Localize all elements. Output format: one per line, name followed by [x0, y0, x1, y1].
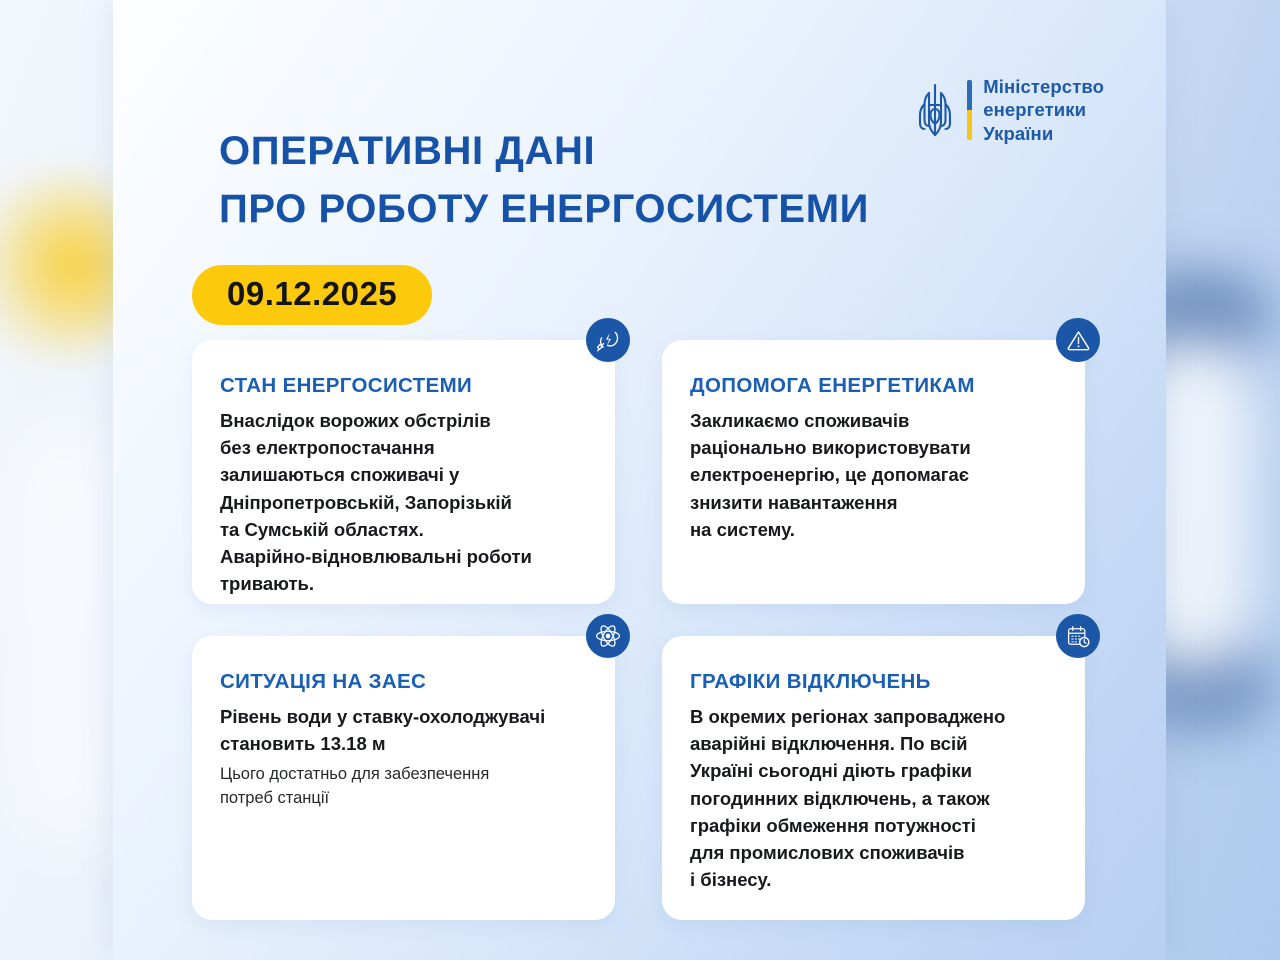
atom-icon — [586, 614, 630, 658]
ukraine-trident-icon — [914, 79, 956, 141]
page-title: ОПЕРАТИВНІ ДАНІ ПРО РОБОТУ ЕНЕРГОСИСТЕМИ — [219, 122, 869, 238]
card-title: СТАН ЕНЕРГОСИСТЕМИ — [220, 374, 589, 398]
ministry-logo-line-3: України — [983, 122, 1104, 145]
ministry-logo-text: Міністерство енергетики України — [983, 75, 1104, 145]
card-title: СИТУАЦІЯ НА ЗАЕС — [220, 670, 589, 694]
cards-grid: СТАН ЕНЕРГОСИСТЕМИ Внаслідок ворожих обс… — [192, 340, 1092, 920]
card-body-text: Рівень води у ставку-охолоджувачі станов… — [220, 703, 589, 757]
ministry-logo: Міністерство енергетики України — [914, 75, 1104, 145]
warning-triangle-icon — [1056, 318, 1100, 362]
card-power-system-status: СТАН ЕНЕРГОСИСТЕМИ Внаслідок ворожих обс… — [192, 340, 615, 604]
card-outage-schedules: ГРАФІКИ ВІДКЛЮЧЕНЬ В окремих регіонах за… — [662, 636, 1085, 920]
card-body-text: Закликаємо споживачів раціонально викори… — [690, 407, 1059, 543]
card-title: ДОПОМОГА ЕНЕРГЕТИКАМ — [690, 374, 1059, 398]
card-title: ГРАФІКИ ВІДКЛЮЧЕНЬ — [690, 670, 1059, 694]
logo-divider — [967, 80, 972, 140]
calendar-clock-icon — [1056, 614, 1100, 658]
infographic-stage: Міністерство енергетики України ОПЕРАТИВ… — [0, 0, 1280, 960]
ministry-logo-line-2: енергетики — [983, 98, 1104, 121]
card-help-energy-workers: ДОПОМОГА ЕНЕРГЕТИКАМ Закликаємо споживач… — [662, 340, 1085, 604]
date-badge: 09.12.2025 — [192, 265, 432, 325]
ministry-logo-line-1: Міністерство — [983, 75, 1104, 98]
left-white-blur-decoration — [10, 420, 120, 850]
card-zaporizhzhia-npp-situation: СИТУАЦІЯ НА ЗАЕС Рівень води у ставку-ох… — [192, 636, 615, 920]
plug-lightning-icon — [586, 318, 630, 362]
infographic-panel: Міністерство енергетики України ОПЕРАТИВ… — [113, 0, 1166, 960]
card-body-text: В окремих регіонах запроваджено аварійні… — [690, 703, 1059, 893]
card-note-text: Цього достатньо для забезпечення потреб … — [220, 763, 589, 810]
card-body-text: Внаслідок ворожих обстрілів без електроп… — [220, 407, 589, 597]
page-title-line-2: ПРО РОБОТУ ЕНЕРГОСИСТЕМИ — [219, 180, 869, 238]
page-title-line-1: ОПЕРАТИВНІ ДАНІ — [219, 122, 869, 180]
